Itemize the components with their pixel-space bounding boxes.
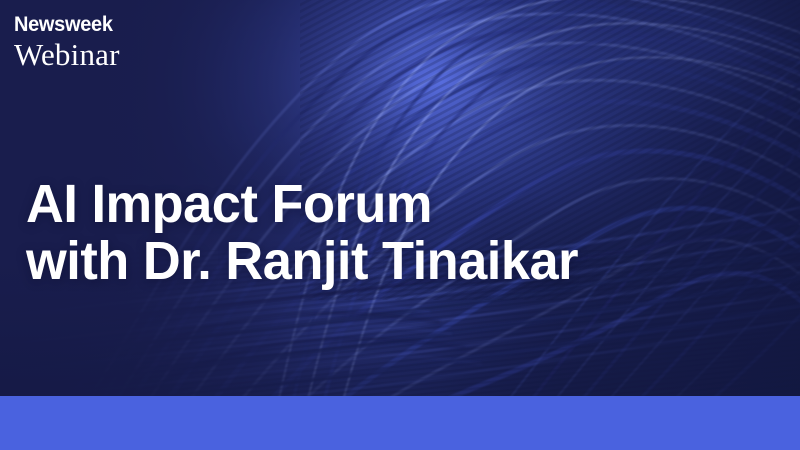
newsweek-webinar-logo: Newsweek Webinar <box>14 14 120 70</box>
webinar-title-slide: Newsweek Webinar AI Impact Forum with Dr… <box>0 0 800 450</box>
page-title: AI Impact Forum with Dr. Ranjit Tinaikar <box>26 176 578 290</box>
bottom-accent-bar <box>0 396 800 450</box>
page-title-line-2: with Dr. Ranjit Tinaikar <box>26 233 578 290</box>
page-title-line-1: AI Impact Forum <box>26 176 578 233</box>
webinar-label: Webinar <box>14 39 120 70</box>
newsweek-brand-wordmark: Newsweek <box>14 14 114 35</box>
